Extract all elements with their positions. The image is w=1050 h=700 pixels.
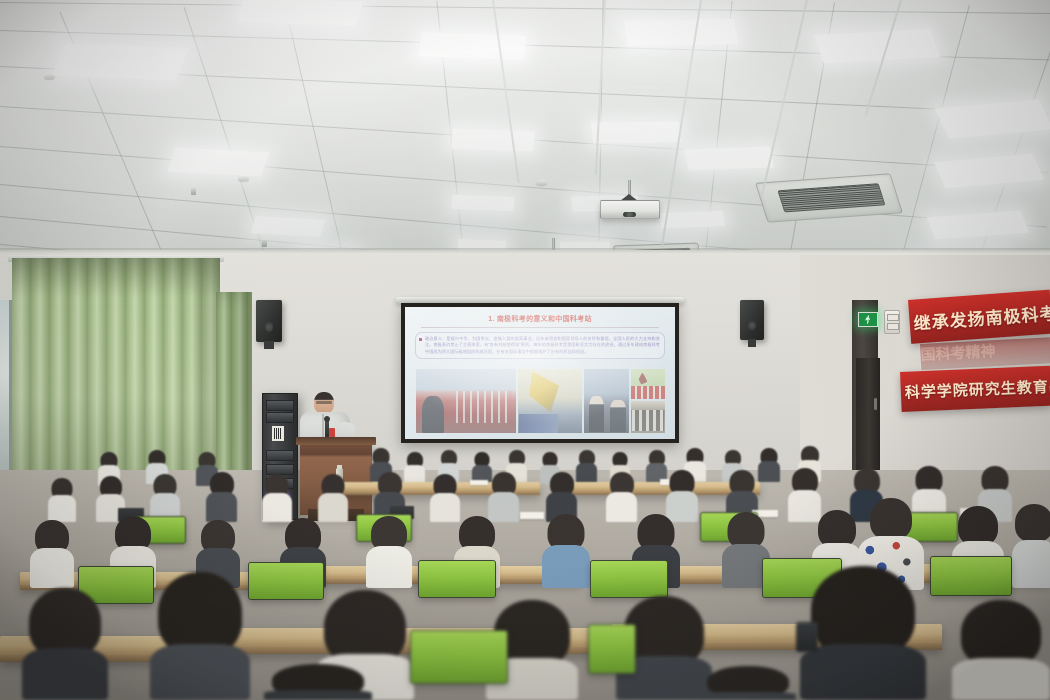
- door-handle[interactable]: [874, 398, 877, 410]
- torso: [542, 545, 590, 588]
- ceiling-panel-light: [451, 129, 535, 152]
- handout-paper: [470, 480, 488, 485]
- sprinkler-head: [262, 240, 267, 247]
- chair-back[interactable]: [248, 562, 324, 600]
- audience-member: [264, 664, 372, 700]
- torso: [758, 461, 780, 482]
- rack-bay: [266, 400, 294, 411]
- torso: [22, 648, 108, 700]
- audience-member: [150, 572, 250, 700]
- ceiling-panel-light: [659, 211, 725, 228]
- slide-photo-strip: [416, 369, 665, 433]
- audience-member: [22, 588, 108, 700]
- chair-back[interactable]: [590, 560, 668, 598]
- projection-screen: 1. 南极科考的意义和中国科考站 政治意义：是振兴中华、为国争光、造福人类的崇高…: [401, 303, 679, 443]
- banner-bottom-text: 科学学院研究生教育品牌文化活动: [900, 371, 1050, 402]
- ceiling-ac-vent: [755, 173, 903, 223]
- audience-member: [576, 450, 597, 483]
- torso: [264, 690, 372, 700]
- rack-bay: [266, 450, 294, 461]
- slide-photo-conference: [631, 401, 665, 433]
- ceiling-panel-light: [927, 211, 1029, 240]
- slide-photo-flag: [518, 369, 583, 433]
- audience-member: [262, 474, 292, 522]
- torso: [700, 692, 796, 700]
- ceiling-panel-light: [934, 154, 1044, 189]
- audience-member: [542, 514, 590, 588]
- running-man-glyph: [865, 315, 871, 324]
- slide-photo-red-parkas: [631, 369, 665, 399]
- ceiling-panel-light: [419, 32, 527, 60]
- presenter-badge: [329, 428, 335, 437]
- wall-banner-bottom: 科学学院研究生教育品牌文化活动: [900, 366, 1050, 412]
- torso: [366, 546, 412, 588]
- projector-lens: [623, 212, 636, 218]
- ceiling-panel-light: [452, 195, 515, 211]
- emergency-exit-icon: [858, 312, 878, 327]
- audience-member: [48, 478, 76, 522]
- smoke-detector: [238, 176, 249, 181]
- audience-member: [758, 448, 780, 482]
- torso: [206, 492, 237, 522]
- head: [870, 498, 912, 540]
- speaker-mount: [264, 341, 273, 349]
- audience-member: [1012, 504, 1050, 588]
- ceiling-panel-light: [935, 99, 1050, 138]
- smoke-detector: [536, 180, 547, 185]
- light-switch-plate[interactable]: [884, 310, 900, 334]
- slide-photo-column: [631, 369, 665, 433]
- mobile-phone: [796, 622, 818, 652]
- speaker-driver: [265, 322, 273, 332]
- torso: [30, 548, 74, 588]
- ceiling-panel-light: [624, 19, 738, 46]
- audience-member: [952, 600, 1050, 700]
- audience-member: [30, 520, 74, 588]
- ceiling-panel-light: [251, 216, 325, 237]
- speaker-driver: [748, 321, 756, 331]
- ceiling-panel-light: [237, 0, 363, 26]
- wall-speaker: [740, 300, 764, 340]
- speaker-mount: [748, 339, 757, 347]
- slide-body-text: 政治意义：是振兴中华、为国争光、造福人类的崇高事业。历年来得党和国家领导人的关怀…: [425, 336, 660, 355]
- presenter-glasses: [316, 401, 332, 404]
- slide-title: 1. 南极科考的意义和中国科考站: [415, 314, 665, 324]
- rack-bay: [266, 412, 294, 423]
- audience-member: [430, 474, 460, 522]
- torso: [1012, 540, 1050, 588]
- slide-text-box: 政治意义：是振兴中华、为国争光、造福人类的崇高事业。历年来得党和国家领导人的关怀…: [415, 332, 665, 359]
- ceiling-panel-light: [52, 44, 189, 80]
- slide-photo-ceremony: [416, 369, 516, 433]
- rack-qr-label: [272, 426, 284, 441]
- smoke-detector: [44, 74, 55, 79]
- wall-ceiling-trim: [0, 248, 1050, 254]
- window-curtains: [216, 292, 252, 492]
- bottle-cap: [337, 465, 342, 469]
- lectern-top: [296, 437, 376, 445]
- chair-back[interactable]: [930, 556, 1012, 596]
- audience-member: [488, 472, 519, 522]
- head: [1015, 504, 1050, 542]
- ceiling-conduit: [761, 0, 808, 195]
- head: [958, 506, 998, 546]
- chair-back[interactable]: [588, 624, 636, 674]
- lecture-hall-photograph: 1. 南极科考的意义和中国科考站 政治意义：是振兴中华、为国争光、造福人类的崇高…: [0, 0, 1050, 700]
- projector-mount-pole: [628, 180, 631, 196]
- light-switch[interactable]: [887, 323, 899, 330]
- torso: [952, 658, 1050, 700]
- torso: [576, 463, 597, 483]
- torso: [48, 495, 76, 522]
- audience-member: [404, 452, 425, 484]
- slide-title-rule: [421, 327, 659, 328]
- ceiling-panel-light: [168, 148, 270, 177]
- ceiling-panel-light: [814, 29, 940, 63]
- ceiling-panel-light: [684, 147, 774, 171]
- audience-member: [366, 516, 412, 588]
- slide-bullet-marker: [419, 338, 422, 341]
- sprinkler-head: [191, 188, 196, 195]
- audience-member: [150, 474, 180, 522]
- torso: [150, 644, 250, 700]
- audience-member: [800, 566, 926, 700]
- handout-paper: [520, 512, 544, 519]
- light-switch[interactable]: [887, 314, 899, 321]
- slide-surface: 1. 南极科考的意义和中国科考站 政治意义：是振兴中华、为国争光、造福人类的崇高…: [405, 307, 675, 439]
- projector-body: [600, 200, 660, 219]
- audience-member: [318, 474, 348, 522]
- chair-back[interactable]: [418, 560, 496, 598]
- ceiling-conduit: [492, 0, 520, 183]
- chair-back[interactable]: [410, 630, 508, 684]
- ac-vent-grille: [778, 184, 886, 212]
- ceiling-panel-light: [591, 121, 681, 144]
- slide-photo-delegates: [584, 369, 629, 433]
- audience-member: [700, 666, 796, 700]
- wall-speaker: [256, 300, 282, 342]
- audience-member: [206, 472, 237, 522]
- torso: [800, 644, 926, 700]
